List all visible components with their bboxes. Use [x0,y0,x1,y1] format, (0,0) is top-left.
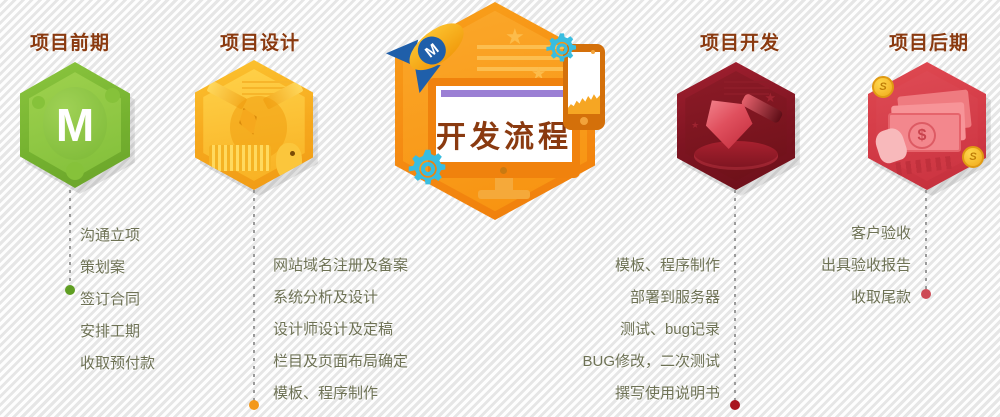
connector-enddot-3 [730,400,740,410]
money-symbol: $ [908,122,936,149]
stage-column-1: 项目前期 M 沟通立项 策划案 签订合同 安排工期 收取预付款 [0,0,200,417]
monitor-power-dot [500,167,507,174]
list-item: 收取尾款 [793,282,911,314]
list-item: 撰写使用说明书 [545,378,720,410]
list-item: 签订合同 [80,284,195,316]
hexagon-green-m-icon: M [20,62,130,188]
hexagon-orange-design-icon [195,60,313,190]
coin-icon: S [872,76,894,98]
connector-enddot-2 [249,400,259,410]
smartphone-home-button [580,117,588,125]
connector-enddot-4 [921,289,931,299]
hexagon-red-money-icon: $ S S [868,62,986,190]
list-item: 策划案 [80,252,195,284]
stage-title-3: 项目开发 [700,28,780,55]
stage-column-2: 项目设计 网站域名注册及备案 系统分析及设计 设计师设计及定稿 栏目及页面 [195,0,395,417]
stage-title-1: 项目前期 [30,28,110,55]
gear-icon [407,148,449,190]
list-item: 客户验收 [793,218,911,250]
stage-column-4: 项目后期 $ S S 客户验收 出具验收报告 收取尾款 [815,0,1000,417]
hexagon-darkred-gem-icon: ★ ★ [677,62,795,190]
monitor-foot [478,190,530,199]
center-screen-label: 开发流程 [429,112,579,156]
stage-item-list-4: 客户验收 出具验收报告 收取尾款 [793,218,911,314]
coin-icon: S [962,146,984,168]
star-icon: ★ [505,24,525,50]
list-item: 测试、bug记录 [545,314,720,346]
smartphone-speaker [591,50,595,54]
gear-icon [545,32,579,66]
list-item: 模板、程序制作 [545,250,720,282]
list-item: 安排工期 [80,316,195,348]
connector-line-4 [925,190,927,298]
screen-titlebar [441,90,567,97]
star-icon: ★ [691,120,699,131]
stage-column-3: 项目开发 ★ ★ 模板、程序制作 部署到服务器 测试、bug记录 BUG修改，二… [615,0,815,417]
stage-item-list-1: 沟通立项 策划案 签订合同 安排工期 收取预付款 [80,220,195,380]
list-item: 出具验收报告 [793,250,911,282]
list-item: 收取预付款 [80,348,195,380]
process-diagram: 项目前期 M 沟通立项 策划案 签订合同 安排工期 收取预付款 项目设计 [0,0,1000,417]
list-item: BUG修改，二次测试 [545,346,720,378]
stage-title-4: 项目后期 [889,28,969,55]
connector-enddot-1 [65,285,75,295]
list-item: 部署到服务器 [545,282,720,314]
connector-line-1 [69,190,71,288]
connector-line-3 [734,190,736,405]
list-item: 沟通立项 [80,220,195,252]
stage-item-list-3: 模板、程序制作 部署到服务器 测试、bug记录 BUG修改，二次测试 撰写使用说… [545,250,720,410]
connector-line-2 [253,190,255,405]
stage-title-2: 项目设计 [220,28,300,55]
